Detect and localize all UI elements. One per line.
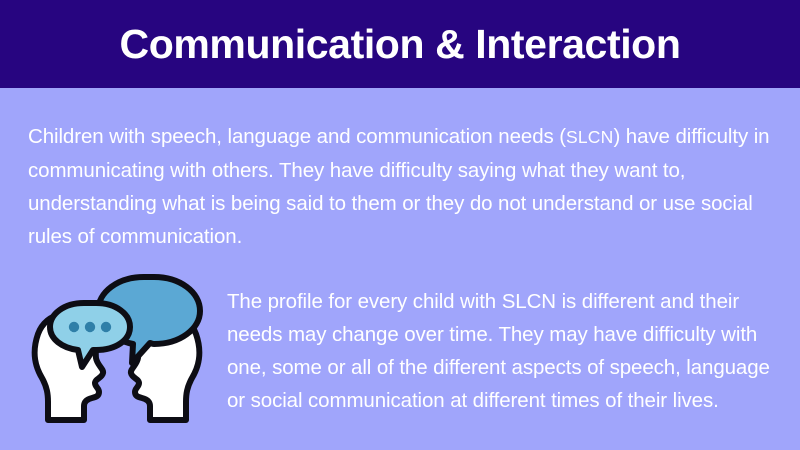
intro-paragraph-part-1: Children with speech, language and commu… xyxy=(28,125,566,148)
slcn-acronym: SLCN xyxy=(566,127,613,147)
lower-section: The profile for every child with SLCN is… xyxy=(0,258,800,450)
intro-paragraph: Children with speech, language and commu… xyxy=(28,120,772,253)
bubble-dot-3 xyxy=(101,322,111,332)
profile-paragraph: The profile for every child with SLCN is… xyxy=(227,285,785,417)
slide: Communication & Interaction Children wit… xyxy=(0,0,800,450)
bubble-dot-1 xyxy=(69,322,79,332)
header-bar: Communication & Interaction xyxy=(0,0,800,88)
two-heads-conversation-illustration xyxy=(26,270,208,430)
bubble-dot-2 xyxy=(85,322,95,332)
conversation-icon xyxy=(26,270,208,430)
page-title: Communication & Interaction xyxy=(120,24,681,65)
